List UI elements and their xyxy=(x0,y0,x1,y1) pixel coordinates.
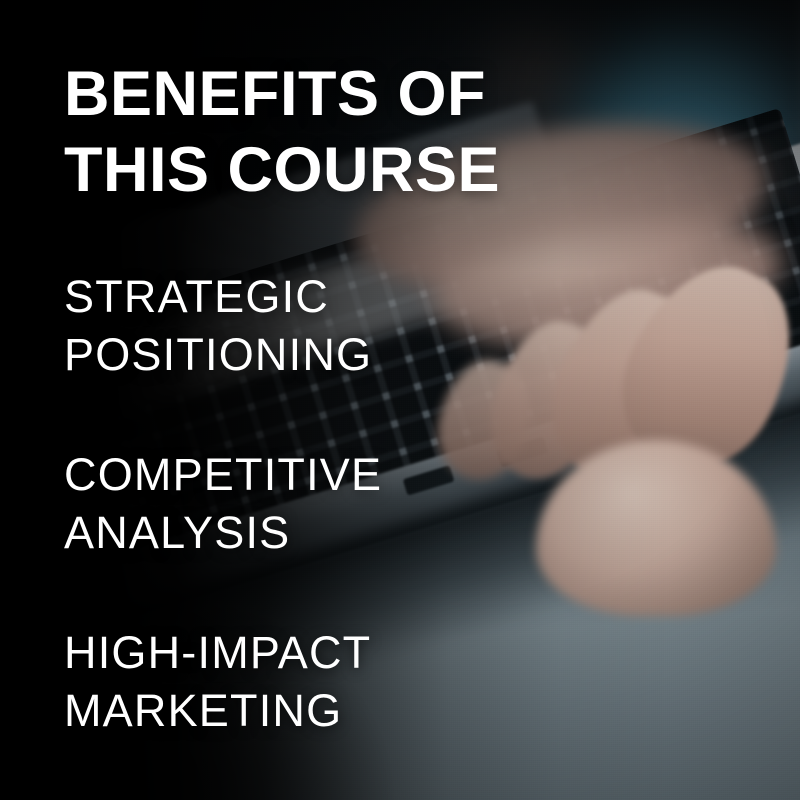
page-title: BENEFITS OF THIS COURSE xyxy=(64,56,534,208)
benefit-line-2: ANALYSIS xyxy=(64,507,290,558)
benefit-line-2: MARKETING xyxy=(64,685,342,736)
headline-line-1: BENEFITS OF xyxy=(64,59,486,129)
benefit-line-1: STRATEGIC xyxy=(64,271,329,322)
benefit-line-1: COMPETITIVE xyxy=(64,449,382,500)
benefit-item-high-impact-marketing: HIGH-IMPACT MARKETING xyxy=(64,624,484,740)
benefit-line-1: HIGH-IMPACT xyxy=(64,627,371,678)
course-benefits-graphic: BENEFITS OF THIS COURSE STRATEGIC POSITI… xyxy=(0,0,800,800)
text-content: BENEFITS OF THIS COURSE STRATEGIC POSITI… xyxy=(0,0,800,800)
benefit-line-2: POSITIONING xyxy=(64,329,372,380)
benefits-list: STRATEGIC POSITIONING COMPETITIVE ANALYS… xyxy=(64,268,484,740)
headline-line-2: THIS COURSE xyxy=(64,135,500,205)
benefit-item-strategic-positioning: STRATEGIC POSITIONING xyxy=(64,268,484,384)
benefit-item-competitive-analysis: COMPETITIVE ANALYSIS xyxy=(64,446,484,562)
